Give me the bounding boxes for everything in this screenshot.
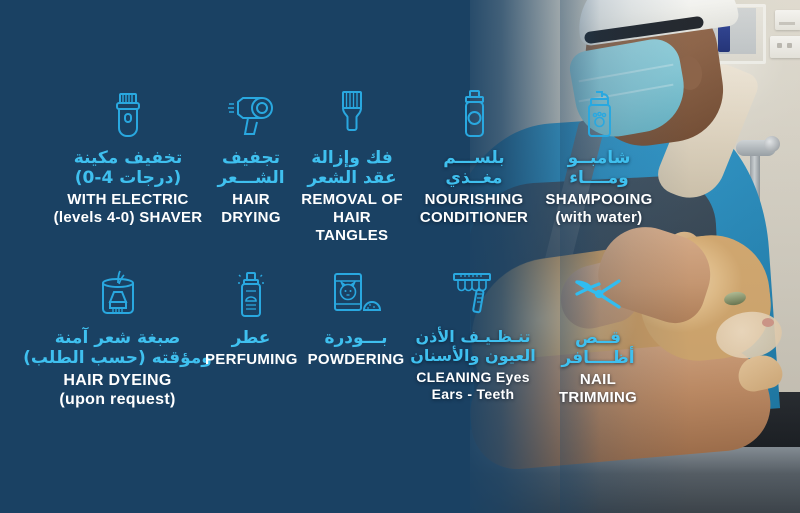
service-label-en: CLEANING Eyes Ears - Teeth <box>408 369 538 403</box>
service-label-en: PERFUMING <box>205 351 297 369</box>
conditioner-bottle-icon <box>410 86 538 138</box>
grooming-brush-icon <box>297 86 407 138</box>
teeth-toothbrush-icon <box>408 266 538 318</box>
service-item-powdering[interactable]: بـــودرة POWDERING <box>297 266 415 369</box>
service-item-cleaning-eyes-ears-teeth[interactable]: تنـظـيـف الأذن العيون والأسنان CLEANING … <box>408 266 538 402</box>
service-label-en: HAIR DRYING <box>205 191 297 227</box>
hair-dryer-icon <box>205 86 297 138</box>
service-label-ar: صبغة شعر آمنة ومؤقته (حسب الطلب) <box>10 328 225 368</box>
service-label-ar: شامبــو ومــــاء <box>534 148 664 188</box>
service-item-hair-drying[interactable]: تجفيف الشـــعر HAIR DRYING <box>205 86 297 227</box>
perfume-spray-icon <box>205 266 297 318</box>
nail-clipper-icon <box>534 266 662 318</box>
service-label-en: HAIR DYEING (upon request) <box>10 371 225 409</box>
dye-bucket-brush-icon <box>10 266 225 318</box>
powder-pack-icon <box>297 266 415 318</box>
shampoo-bottle-paw-icon <box>534 86 664 138</box>
clipper-shaver-icon <box>28 86 228 138</box>
service-label-en: NAIL TRIMMING <box>534 371 662 407</box>
service-label-ar: تنـظـيـف الأذن العيون والأسنان <box>408 328 538 366</box>
service-item-hair-dyeing[interactable]: صبغة شعر آمنة ومؤقته (حسب الطلب) HAIR DY… <box>10 266 225 409</box>
service-label-en: POWDERING <box>297 351 415 369</box>
poster-canvas: تخفيف مكينة (درجات 4-0) WITH ELECTRIC (l… <box>0 0 800 513</box>
service-item-perfuming[interactable]: عطر PERFUMING <box>205 266 297 369</box>
service-label-ar: فك وإزالة عقد الشعر <box>297 148 407 188</box>
service-item-nail-trimming[interactable]: قــص أظــــافر NAIL TRIMMING <box>534 266 662 407</box>
service-item-hair-thinning-shaver[interactable]: تخفيف مكينة (درجات 4-0) WITH ELECTRIC (l… <box>28 86 228 227</box>
service-item-nourishing-conditioner[interactable]: بلســـم مغــذي NOURISHING CONDITIONER <box>410 86 538 227</box>
service-label-en: REMOVAL OF HAIR TANGLES <box>297 191 407 245</box>
service-item-hair-tangle-removal[interactable]: فك وإزالة عقد الشعر REMOVAL OF HAIR TANG… <box>297 86 407 245</box>
service-label-ar: عطر <box>205 328 297 348</box>
service-label-en: NOURISHING CONDITIONER <box>410 191 538 227</box>
services-grid: تخفيف مكينة (درجات 4-0) WITH ELECTRIC (l… <box>0 0 800 513</box>
service-label-en: WITH ELECTRIC (levels 4-0) SHAVER <box>28 191 228 227</box>
service-item-shampooing[interactable]: شامبــو ومــــاء SHAMPOOING (with water) <box>534 86 664 227</box>
service-label-en: SHAMPOOING (with water) <box>534 191 664 227</box>
service-label-ar: بلســـم مغــذي <box>410 148 538 188</box>
service-label-ar: تجفيف الشـــعر <box>205 148 297 188</box>
service-label-ar: تخفيف مكينة (درجات 4-0) <box>28 148 228 188</box>
service-label-ar: بـــودرة <box>297 328 415 348</box>
service-label-ar: قــص أظــــافر <box>534 328 662 368</box>
